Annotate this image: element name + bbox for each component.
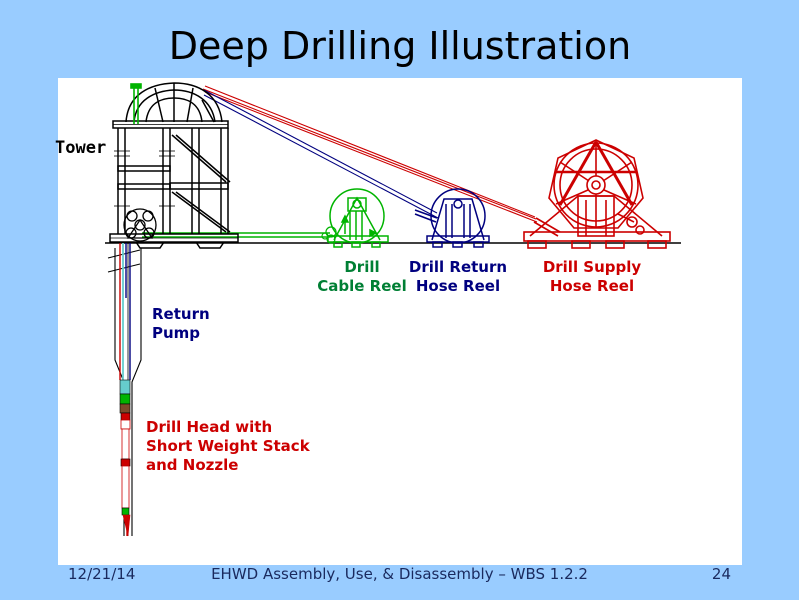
label-drill-supply-hose-reel: Drill Supply Hose Reel [536, 258, 648, 296]
label-return-pump: Return Pump [152, 305, 210, 343]
footer-title: EHWD Assembly, Use, & Disassembly – WBS … [0, 565, 799, 583]
label-drill-head: Drill Head with Short Weight Stack and N… [146, 418, 310, 475]
label-tower: Tower [55, 139, 106, 158]
page-title: Deep Drilling Illustration [85, 20, 715, 75]
footer-page-number: 24 [712, 565, 731, 583]
slide-canvas: Deep Drilling Illustration [0, 0, 799, 600]
label-drill-cable-reel: Drill Cable Reel [308, 258, 416, 296]
label-drill-return-hose-reel: Drill Return Hose Reel [402, 258, 514, 296]
